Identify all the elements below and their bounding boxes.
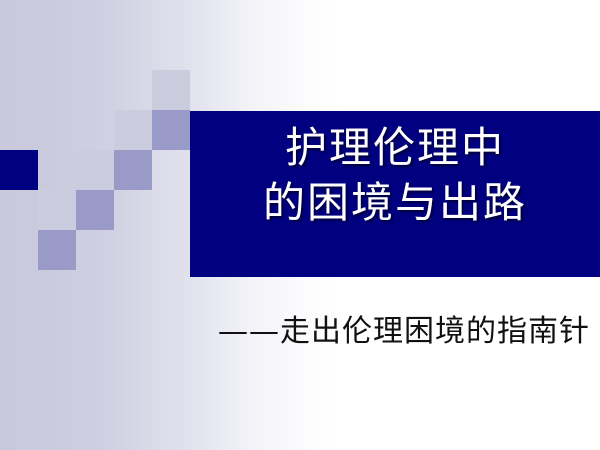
- mosaic-cell-light-lower: [38, 190, 76, 230]
- mosaic-cell-mid-center: [114, 150, 152, 190]
- slide-title-line-2: 的困境与出路: [190, 175, 600, 230]
- mosaic-cell-dark-far-left: [0, 150, 38, 190]
- mosaic-cell-mid-lower: [76, 190, 114, 230]
- slide-subtitle: ——走出伦理困境的指南针: [150, 306, 590, 350]
- slide-title: 护理伦理中 的困境与出路: [190, 120, 600, 231]
- slide-title-line-1: 护理伦理中: [190, 120, 600, 175]
- slide-canvas: 护理伦理中 的困境与出路 ——走出伦理困境的指南针: [0, 0, 600, 450]
- mosaic-cell-mid-upper: [152, 110, 190, 150]
- mosaic-cell-light-upper-left: [114, 110, 152, 150]
- mosaic-cell-mid-bottom: [38, 230, 76, 270]
- mosaic-cell-light-top: [152, 70, 190, 110]
- mosaic-cell-light-mid-left: [76, 150, 114, 190]
